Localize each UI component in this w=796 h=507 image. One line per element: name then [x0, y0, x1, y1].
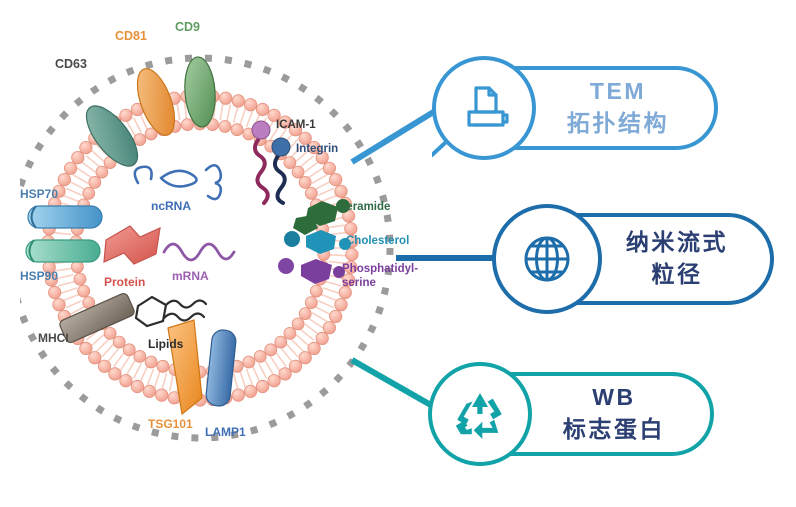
label-ncrna: ncRNA — [151, 199, 191, 213]
label-icam1: ICAM-1 — [276, 119, 316, 131]
globe-icon — [520, 232, 574, 286]
callout-nano-text: 纳米流式 粒径 — [580, 213, 774, 305]
callout-tem-text: TEM 拓扑结构 — [518, 66, 718, 150]
label-tsg101: TSG101 — [148, 417, 193, 431]
callout-tem-icon-circle[interactable] — [432, 56, 536, 160]
label-cd81: CD81 — [115, 29, 147, 43]
callout-nano-line2: 粒径 — [651, 259, 702, 291]
cargo-ncrna — [135, 165, 221, 199]
callout-wb-icon-circle[interactable] — [428, 362, 532, 466]
exosome-svg: CD63 CD81 CD9 ICAM-1 Integrin HSP70 HSP9… — [20, 18, 420, 488]
label-hsp90: HSP90 — [20, 269, 58, 283]
label-ceramide: Ceramide — [338, 201, 390, 213]
callout-wb-line1: WB — [592, 382, 635, 414]
infographic-root: CD63 CD81 CD9 ICAM-1 Integrin HSP70 HSP9… — [0, 0, 796, 507]
callout-nano-icon-circle[interactable] — [492, 204, 602, 314]
label-phosphatidylserine-line2: serine — [342, 277, 376, 289]
label-lipids: Lipids — [148, 337, 184, 351]
membrane-protein-hsp70 — [28, 206, 102, 228]
membrane-protein-icam1 — [252, 121, 270, 203]
membrane-protein-cd9 — [183, 56, 218, 128]
callout-nano-flow[interactable]: 纳米流式 粒径 — [492, 204, 776, 314]
label-cd9: CD9 — [175, 20, 200, 34]
membrane-protein-mhci — [58, 292, 135, 344]
callout-wb-line2: 标志蛋白 — [563, 414, 665, 446]
callout-tem-line1: TEM — [590, 76, 646, 108]
callout-nano-line1: 纳米流式 — [626, 227, 728, 259]
label-integrin: Integrin — [296, 143, 338, 155]
callout-tem[interactable]: TEM 拓扑结构 — [432, 56, 722, 160]
label-phosphatidylserine-line1: Phosphatidyl- — [342, 263, 418, 275]
label-hsp70: HSP70 — [20, 187, 58, 201]
callout-tem-line2: 拓扑结构 — [567, 108, 669, 140]
label-mrna: mRNA — [172, 269, 209, 283]
label-lamp1: LAMP1 — [205, 425, 246, 439]
label-mhci: MHCI — [38, 331, 69, 345]
cargo-mrna — [164, 244, 234, 260]
label-cd63: CD63 — [55, 57, 87, 71]
callout-wb-text: WB 标志蛋白 — [514, 372, 714, 456]
label-protein: Protein — [104, 275, 145, 289]
exosome-vesicle-diagram: CD63 CD81 CD9 ICAM-1 Integrin HSP70 HSP9… — [20, 18, 420, 488]
membrane-protein-integrin — [272, 138, 290, 203]
membrane-protein-hsp90 — [26, 240, 100, 262]
cargo-lipids — [136, 297, 206, 326]
label-cholesterol: Cholesterol — [346, 235, 409, 247]
document-printer-magnifier-icon — [456, 80, 512, 136]
recycle-icon — [453, 387, 507, 441]
callout-wb[interactable]: WB 标志蛋白 — [428, 362, 718, 466]
cargo-protein — [104, 226, 160, 264]
